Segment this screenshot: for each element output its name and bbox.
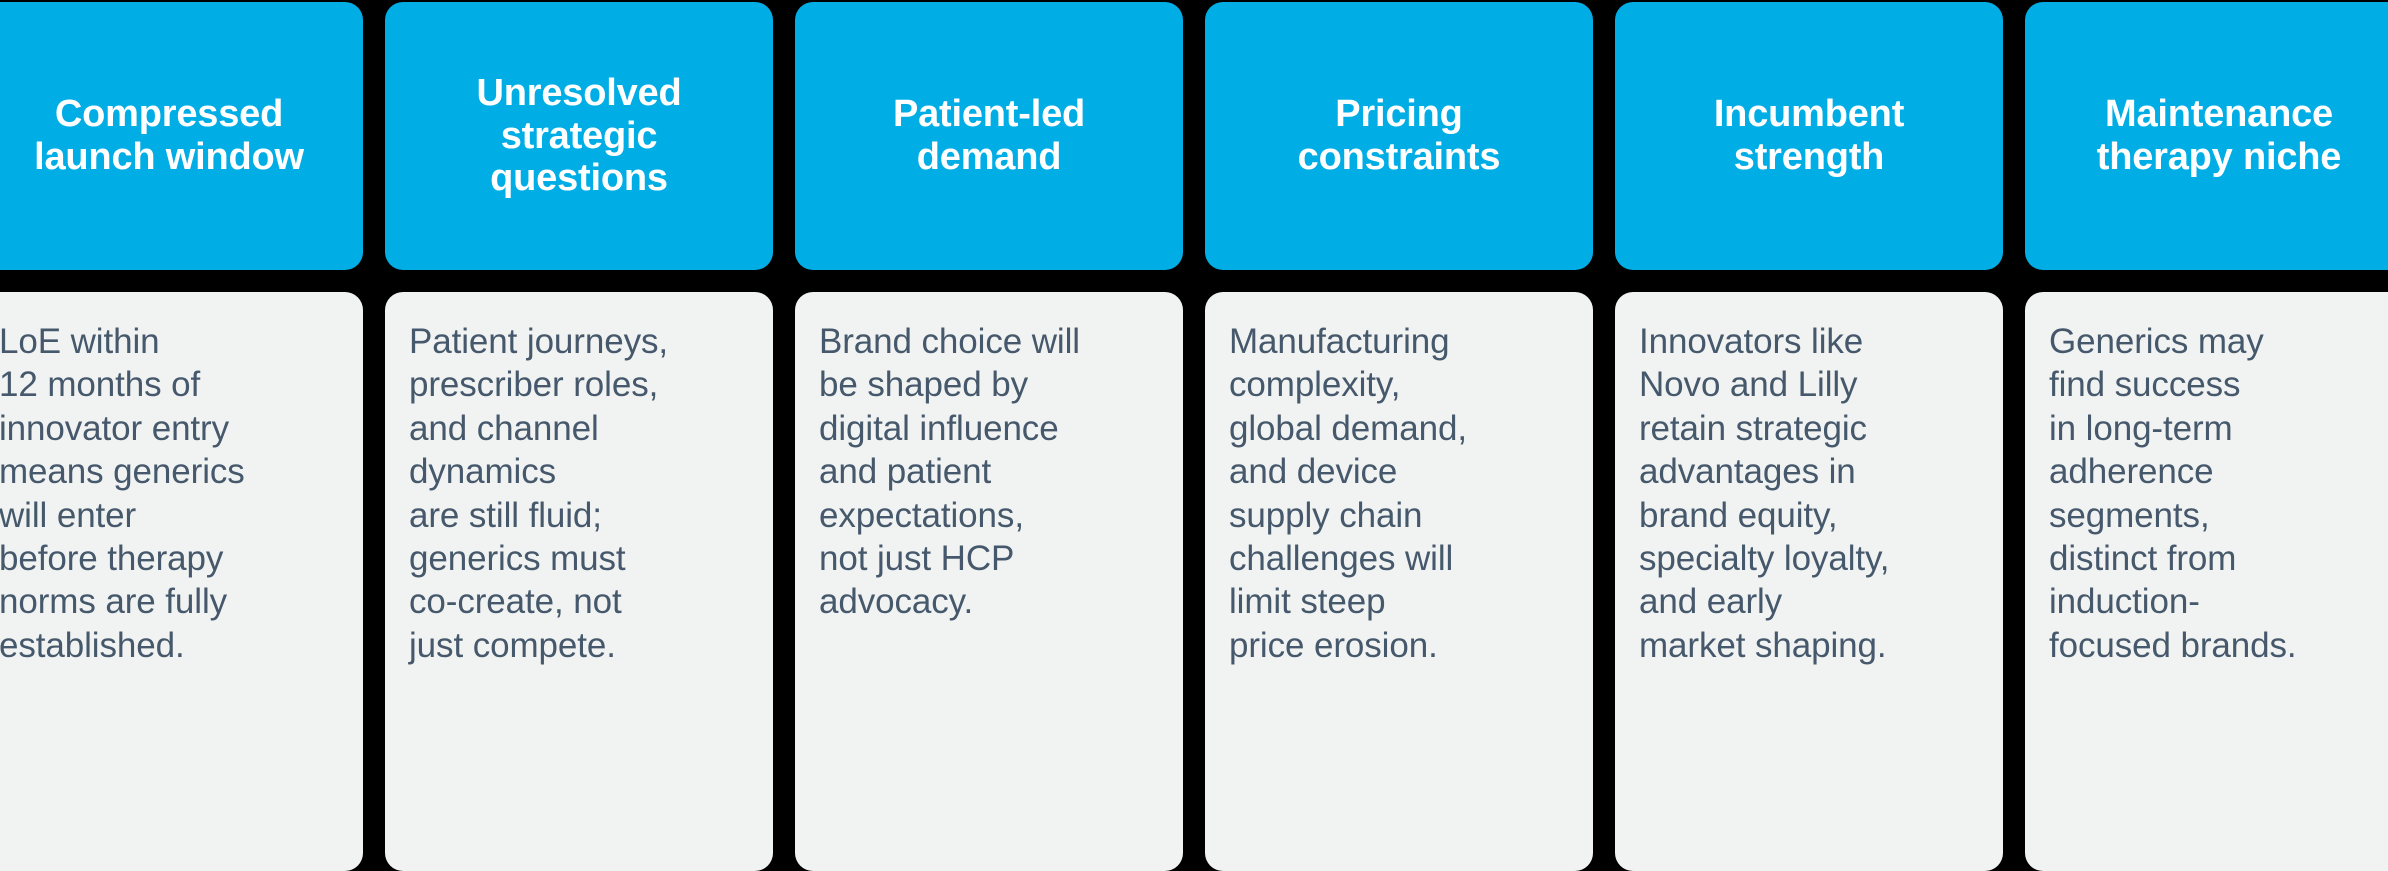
column-header-card-2[interactable]: Unresolved strategic questions <box>385 2 773 270</box>
card-column-5: Incumbent strength Innovators like Novo … <box>1615 0 2003 871</box>
column-body-text-1: LoE within 12 months of innovator entry … <box>0 320 339 667</box>
column-header-card-4[interactable]: Pricing constraints <box>1205 2 1593 270</box>
card-grid: Compressed launch window LoE within 12 m… <box>0 0 2388 871</box>
card-column-1: Compressed launch window LoE within 12 m… <box>0 0 363 871</box>
column-header-title-1: Compressed launch window <box>34 93 304 178</box>
card-column-3: Patient-led demand Brand choice will be … <box>795 0 1183 871</box>
column-body-card-2[interactable]: Patient journeys, prescriber roles, and … <box>385 292 773 871</box>
column-header-card-3[interactable]: Patient-led demand <box>795 2 1183 270</box>
column-body-text-6: Generics may find success in long-term a… <box>2049 320 2388 667</box>
card-column-4: Pricing constraints Manufacturing comple… <box>1205 0 1593 871</box>
column-body-card-1[interactable]: LoE within 12 months of innovator entry … <box>0 292 363 871</box>
card-column-6: Maintenance therapy niche Generics may f… <box>2025 0 2388 871</box>
column-body-text-5: Innovators like Novo and Lilly retain st… <box>1639 320 1979 667</box>
column-body-card-5[interactable]: Innovators like Novo and Lilly retain st… <box>1615 292 2003 871</box>
column-header-title-2: Unresolved strategic questions <box>477 72 682 200</box>
column-header-title-3: Patient-led demand <box>893 93 1085 178</box>
column-header-card-1[interactable]: Compressed launch window <box>0 2 363 270</box>
column-body-text-3: Brand choice will be shaped by digital i… <box>819 320 1159 624</box>
column-header-title-4: Pricing constraints <box>1298 93 1501 178</box>
column-body-text-2: Patient journeys, prescriber roles, and … <box>409 320 749 667</box>
column-body-card-6[interactable]: Generics may find success in long-term a… <box>2025 292 2388 871</box>
column-header-title-5: Incumbent strength <box>1714 93 1904 178</box>
column-header-card-6[interactable]: Maintenance therapy niche <box>2025 2 2388 270</box>
column-header-title-6: Maintenance therapy niche <box>2097 93 2341 178</box>
card-column-2: Unresolved strategic questions Patient j… <box>385 0 773 871</box>
column-header-card-5[interactable]: Incumbent strength <box>1615 2 2003 270</box>
column-body-card-3[interactable]: Brand choice will be shaped by digital i… <box>795 292 1183 871</box>
column-body-card-4[interactable]: Manufacturing complexity, global demand,… <box>1205 292 1593 871</box>
column-body-text-4: Manufacturing complexity, global demand,… <box>1229 320 1569 667</box>
